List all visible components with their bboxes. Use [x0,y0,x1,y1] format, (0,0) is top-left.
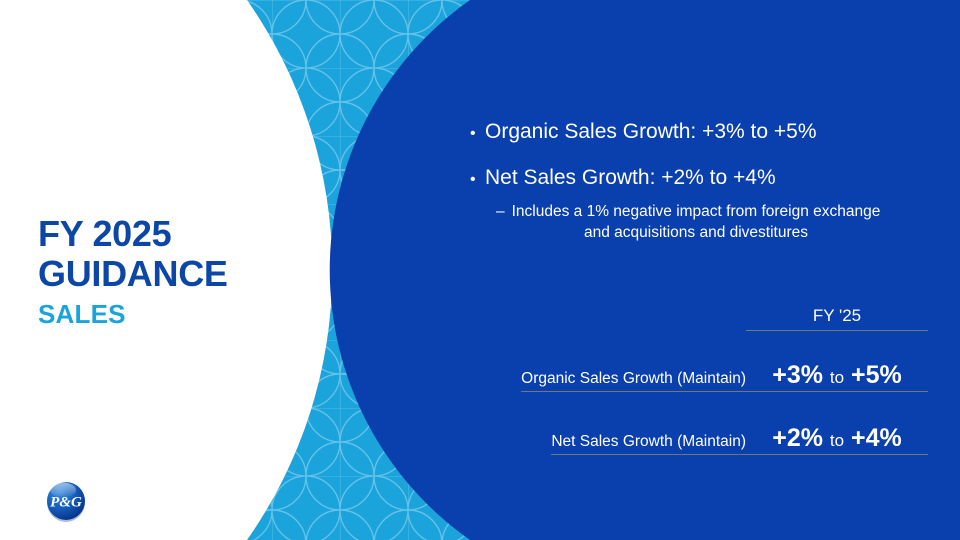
table-row-value-high: +5% [851,361,902,389]
bullet-item-net-sales: • Net Sales Growth: +2% to +4% [470,166,922,190]
sub-bullet-text: Includes a 1% negative impact from forei… [510,202,882,244]
bullet-item-organic-sales: • Organic Sales Growth: +3% to +5% [470,120,922,144]
bullet-text: Net Sales Growth: +2% to +4% [485,166,922,190]
bullet-text: Organic Sales Growth: +3% to +5% [485,120,922,144]
sub-bullet-item-fx-impact: – Includes a 1% negative impact from for… [496,202,922,244]
table-row-value-high: +4% [851,424,902,452]
title-line-1: FY 2025 [38,214,338,254]
table-row-value-low: +2% [772,424,823,452]
guidance-table: FY '25 Organic Sales Growth (Maintain) +… [450,306,928,487]
page-title: FY 2025 GUIDANCE SALES [38,214,338,330]
table-header-row: FY '25 [450,306,928,331]
bullet-list: • Organic Sales Growth: +3% to +5% • Net… [470,120,922,244]
table-row: Organic Sales Growth (Maintain) +3% to +… [450,361,928,392]
bullet-marker-icon: • [470,126,485,142]
sub-bullet-dash-icon: – [496,202,510,223]
table-row-value-low: +3% [772,361,823,389]
table-row-label: Net Sales Growth (Maintain) [551,433,746,455]
table-row: Net Sales Growth (Maintain) +2% to +4% [450,424,928,455]
pg-logo-text: P&G [50,495,82,511]
title-subtitle: SALES [38,299,338,330]
table-row-value-conjunction: to [830,431,844,450]
slide-root: FY 2025 GUIDANCE SALES P&G • Organic Sal… [0,0,960,540]
pg-logo: P&G [42,477,90,525]
table-row-value-conjunction: to [830,368,844,387]
title-line-2: GUIDANCE [38,254,338,294]
table-row-value: +3% to +5% [746,361,928,392]
table-row-label: Organic Sales Growth (Maintain) [521,370,746,392]
table-column-header-fy25: FY '25 [746,306,928,331]
table-row-value: +2% to +4% [746,424,928,455]
bullet-marker-icon: • [470,172,485,188]
